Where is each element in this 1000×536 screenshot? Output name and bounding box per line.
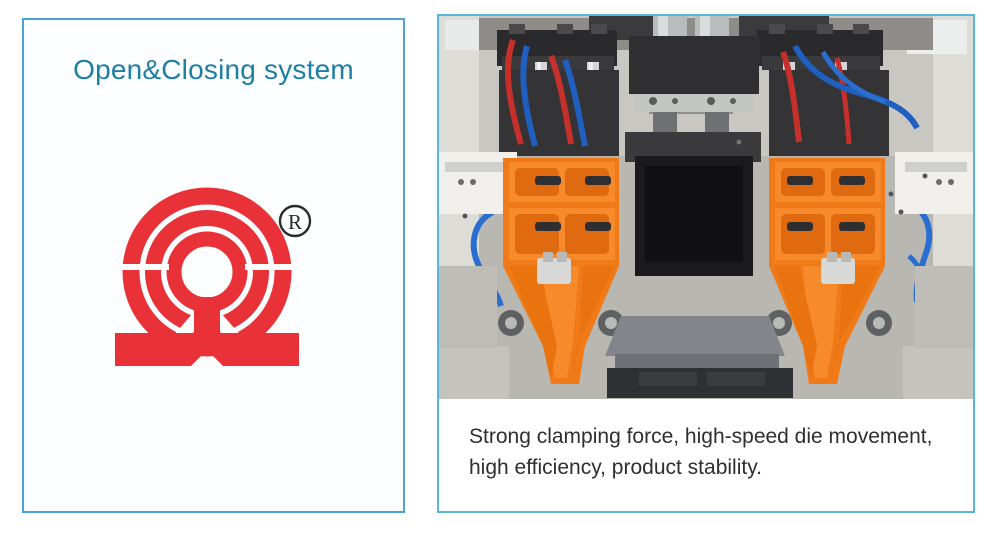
caption-block: Strong clamping force, high-speed die mo… (439, 399, 973, 511)
registered-trademark-icon: R (280, 206, 310, 236)
page-root: Open&Closing system (0, 0, 1000, 536)
page-title: Open&Closing system (24, 54, 403, 86)
company-logo: R (99, 185, 329, 375)
blow-molding-machine-illustration (439, 16, 973, 399)
caption-text: Strong clamping force, high-speed die mo… (469, 421, 947, 483)
left-card: Open&Closing system (22, 18, 405, 513)
machine-photo (439, 16, 973, 399)
right-panel: Strong clamping force, high-speed die mo… (437, 14, 975, 513)
company-logo-icon: R (99, 185, 329, 375)
svg-text:R: R (287, 210, 301, 234)
